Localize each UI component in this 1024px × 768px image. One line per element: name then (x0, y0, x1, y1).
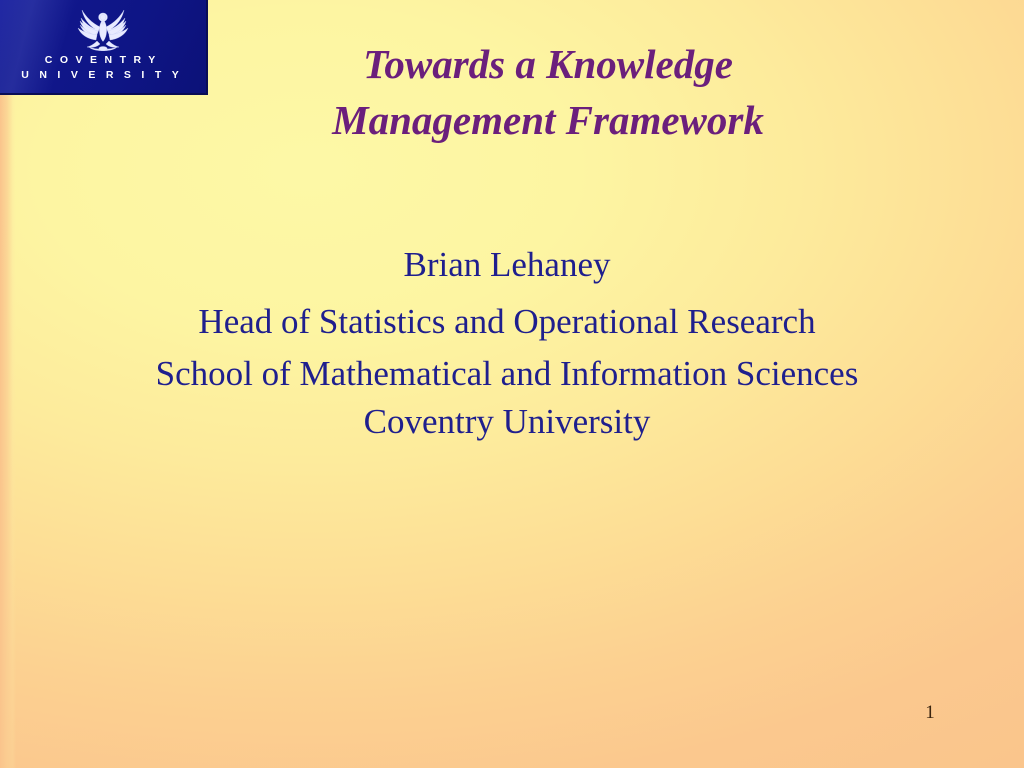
author-school: School of Mathematical and Information S… (62, 350, 952, 398)
page-number: 1 (916, 702, 944, 724)
phoenix-crest-icon (64, 3, 142, 55)
slide-body: Brian Lehaney Head of Statistics and Ope… (62, 236, 952, 446)
presentation-slide: COVENTRY UNIVERSITY Towards a Knowledge … (0, 0, 1024, 768)
coventry-university-logo: COVENTRY UNIVERSITY (0, 0, 208, 95)
slide-title-line-1: Towards a Knowledge (214, 36, 882, 92)
author-role: Head of Statistics and Operational Resea… (62, 293, 952, 350)
logo-wordmark: COVENTRY UNIVERSITY (0, 55, 200, 81)
slide-title: Towards a Knowledge Management Framework (214, 36, 882, 148)
author-institution: Coventry University (62, 398, 952, 446)
author-name: Brian Lehaney (62, 236, 952, 293)
slide-background-left-edge (0, 0, 16, 768)
slide-title-line-2: Management Framework (214, 92, 882, 148)
logo-line-coventry: COVENTRY (0, 55, 200, 66)
logo-line-university: UNIVERSITY (0, 70, 200, 81)
